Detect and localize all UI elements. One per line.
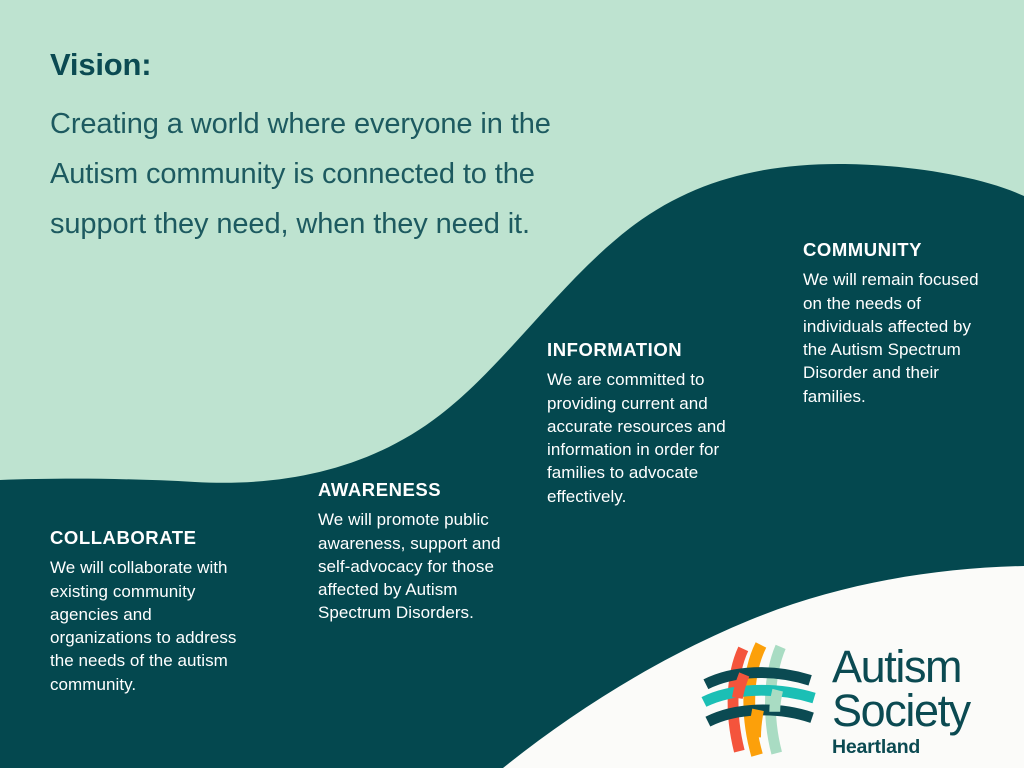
pillar-collaborate-title: COLLABORATE (50, 528, 255, 548)
logo-wordmark: Autism Society Heartland (832, 643, 970, 758)
pillar-information-body: We are committed to providing current an… (547, 368, 752, 508)
pillar-community: COMMUNITY We will remain focused on the … (803, 240, 998, 408)
pillar-awareness: AWARENESS We will promote public awarene… (318, 480, 516, 625)
pillar-collaborate: COLLABORATE We will collaborate with exi… (50, 528, 255, 696)
pillar-awareness-body: We will promote public awareness, suppor… (318, 508, 516, 624)
pillar-collaborate-body: We will collaborate with existing commun… (50, 556, 255, 696)
logo-line-autism: Autism (832, 645, 970, 689)
pillar-community-body: We will remain focused on the needs of i… (803, 268, 998, 408)
autism-society-logo: Autism Society Heartland (700, 638, 1010, 762)
pillar-information-title: INFORMATION (547, 340, 752, 360)
vision-statement: Creating a world where everyone in the A… (50, 100, 610, 250)
autism-society-woven-mark-icon (700, 641, 818, 759)
pillar-awareness-title: AWARENESS (318, 480, 516, 500)
logo-line-society: Society (832, 689, 970, 733)
pillar-information: INFORMATION We are committed to providin… (547, 340, 752, 508)
pillar-community-title: COMMUNITY (803, 240, 998, 260)
logo-line-heartland: Heartland (832, 738, 970, 758)
vision-slide: Vision: Creating a world where everyone … (0, 0, 1024, 768)
vision-block: Vision: Creating a world where everyone … (50, 48, 610, 250)
page-title: Vision: (50, 48, 610, 82)
